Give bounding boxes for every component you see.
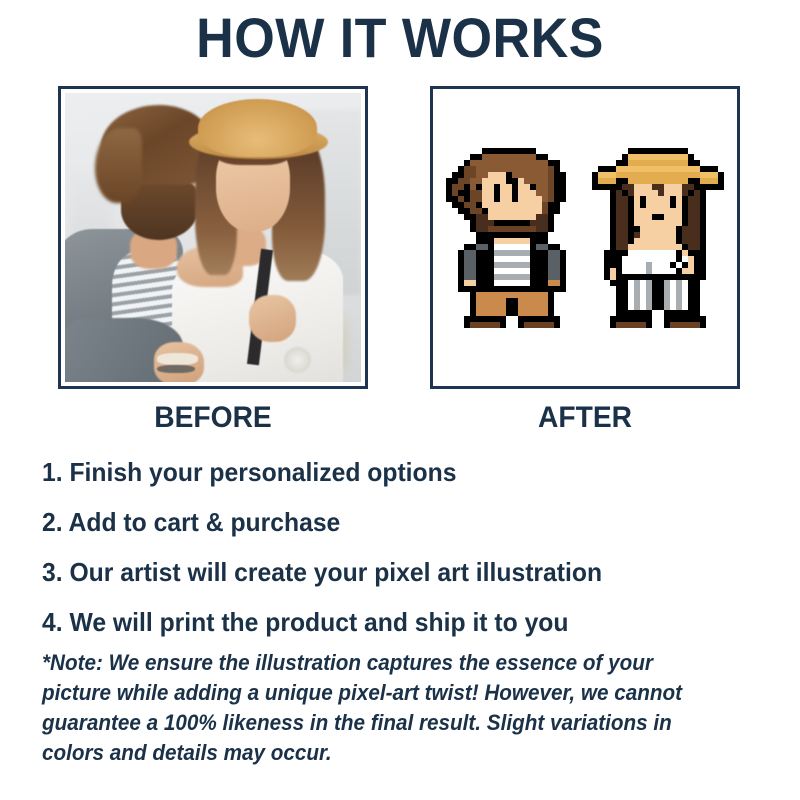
before-photo [65,93,361,382]
after-image-inner [437,93,733,382]
before-label: BEFORE [67,400,358,436]
pixel-avatar-woman [592,148,724,328]
photo-man-bracelet [157,353,198,365]
photo-man-bracelet-dark [157,365,195,374]
page-title: HOW IT WORKS [28,6,772,70]
comparison-labels: BEFORE AFTER [0,400,800,440]
disclaimer-note: *Note: We ensure the illustration captur… [42,648,715,768]
photo-man-hair-side [95,128,142,203]
before-image-frame [58,86,368,389]
photo-woman-straw-hat [198,99,316,157]
step-item-4: 4. We will print the product and ship it… [42,597,726,647]
after-label: AFTER [439,400,730,436]
before-image-inner [65,93,361,382]
photo-woman-hand [249,295,296,341]
after-image-frame [430,86,740,389]
photo-woman-pendant [284,347,311,373]
step-item-3: 3. Our artist will create your pixel art… [42,547,726,597]
pixel-art-avatars [437,93,733,382]
how-it-works-panel: HOW IT WORKS [0,0,800,800]
step-item-2: 2. Add to cart & purchase [42,497,726,547]
step-item-1: 1. Finish your personalized options [42,447,726,497]
steps-list: 1. Finish your personalized options 2. A… [42,447,762,647]
pixel-avatar-man [446,148,578,328]
